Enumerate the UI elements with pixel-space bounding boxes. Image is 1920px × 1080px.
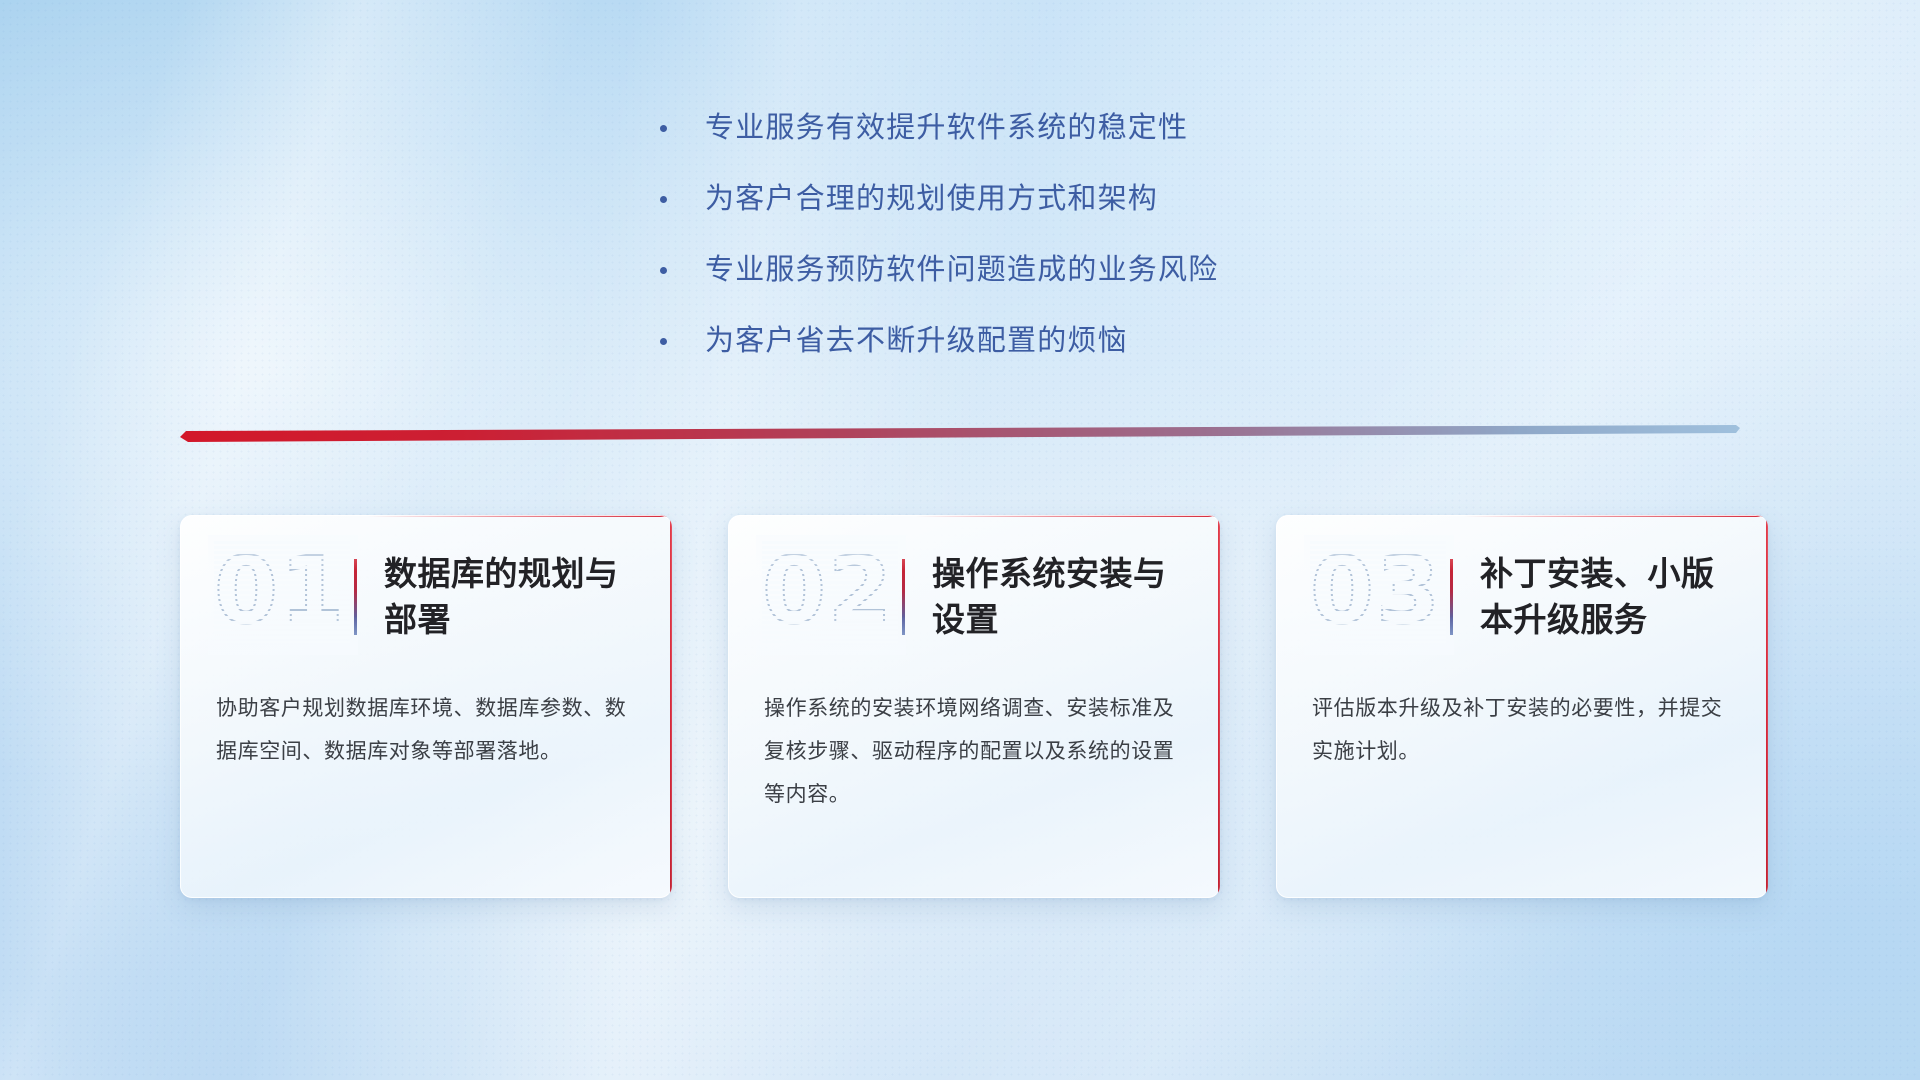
card-number-graphic: 03 bbox=[1310, 545, 1446, 649]
service-card[interactable]: 02 操作系统安装与设置 操作系统的安装环境网络调查、安装标准及复核步骤、驱动程… bbox=[728, 515, 1220, 898]
bullet-text: 专业服务预防软件问题造成的业务风险 bbox=[705, 250, 1218, 290]
card-number-graphic: 02 bbox=[762, 545, 898, 649]
bullet-dot-icon bbox=[660, 321, 680, 361]
card-title: 补丁安装、小版本升级服务 bbox=[1480, 551, 1734, 643]
card-body-text: 操作系统的安装环境网络调查、安装标准及复核步骤、驱动程序的配置以及系统的设置等内… bbox=[728, 645, 1220, 816]
list-item: 专业服务预防软件问题造成的业务风险 bbox=[660, 250, 1440, 290]
card-title: 数据库的规划与部署 bbox=[384, 551, 638, 643]
bullet-text: 专业服务有效提升软件系统的稳定性 bbox=[705, 108, 1188, 148]
bullet-text: 为客户省去不断升级配置的烦恼 bbox=[705, 321, 1128, 361]
card-header: 01 数据库的规划与部署 bbox=[180, 515, 672, 645]
gradient-divider bbox=[180, 425, 1740, 447]
card-header: 03 补丁安装、小版本升级服务 bbox=[1276, 515, 1768, 645]
card-title-accent-bar bbox=[354, 559, 357, 635]
bullet-text: 为客户合理的规划使用方式和架构 bbox=[705, 179, 1158, 219]
card-number: 03 bbox=[1310, 539, 1442, 643]
card-body-text: 评估版本升级及补丁安装的必要性，并提交实施计划。 bbox=[1276, 645, 1768, 773]
list-item: 为客户合理的规划使用方式和架构 bbox=[660, 179, 1440, 219]
card-number: 01 bbox=[214, 539, 346, 643]
card-number: 02 bbox=[762, 539, 894, 643]
card-body-text: 协助客户规划数据库环境、数据库参数、数据库空间、数据库对象等部署落地。 bbox=[180, 645, 672, 773]
bullet-dot-icon bbox=[660, 108, 680, 148]
card-number-graphic: 01 bbox=[214, 545, 350, 649]
list-item: 专业服务有效提升软件系统的稳定性 bbox=[660, 108, 1440, 148]
card-title: 操作系统安装与设置 bbox=[932, 551, 1186, 643]
service-cards: 01 数据库的规划与部署 协助客户规划数据库环境、数据库参数、数据库空间、数据库… bbox=[180, 515, 1770, 898]
bullet-dot-icon bbox=[660, 250, 680, 290]
service-card[interactable]: 01 数据库的规划与部署 协助客户规划数据库环境、数据库参数、数据库空间、数据库… bbox=[180, 515, 672, 898]
slide-canvas: 专业服务有效提升软件系统的稳定性 为客户合理的规划使用方式和架构 专业服务预防软… bbox=[0, 0, 1920, 1080]
service-card[interactable]: 03 补丁安装、小版本升级服务 评估版本升级及补丁安装的必要性，并提交实施计划。 bbox=[1276, 515, 1768, 898]
bullet-dot-icon bbox=[660, 179, 680, 219]
card-header: 02 操作系统安装与设置 bbox=[728, 515, 1220, 645]
list-item: 为客户省去不断升级配置的烦恼 bbox=[660, 321, 1440, 361]
benefits-bullet-list: 专业服务有效提升软件系统的稳定性 为客户合理的规划使用方式和架构 专业服务预防软… bbox=[660, 108, 1440, 392]
card-title-accent-bar bbox=[902, 559, 905, 635]
card-title-accent-bar bbox=[1450, 559, 1453, 635]
